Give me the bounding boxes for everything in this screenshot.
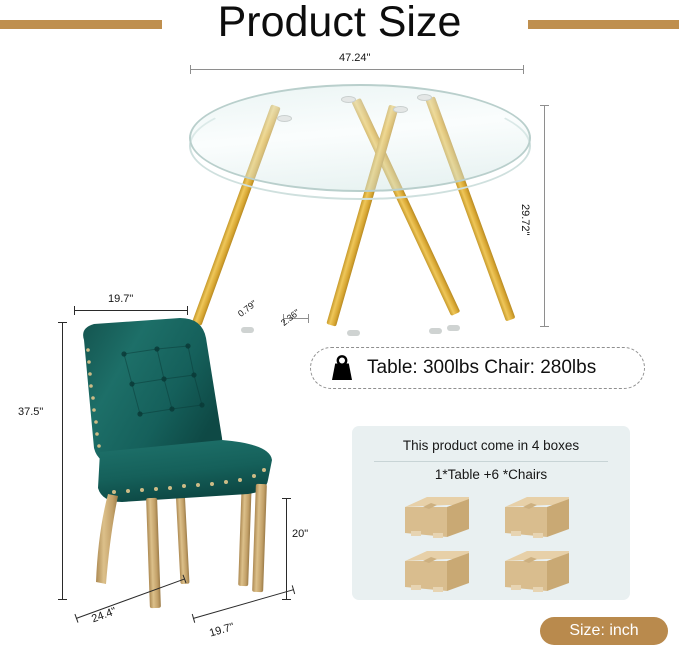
chair-width-top-line: [74, 310, 188, 311]
chair-width-top-label: 19.7": [108, 293, 133, 305]
packaging-headline: This product come in 4 boxes: [352, 436, 630, 456]
table-foot-3: [447, 325, 460, 331]
packaging-panel: This product come in 4 boxes 1*Table +6 …: [352, 426, 630, 600]
chair-width-bottom-label: 19.7": [208, 621, 236, 640]
chair-seat-height-line: [286, 498, 287, 600]
box-grid: [397, 493, 585, 595]
chair-total-height-label: 37.5": [18, 406, 43, 418]
weight-capacity-banner: Table: 300lbs Chair: 280lbs: [310, 347, 645, 389]
page-header: Product Size: [0, 0, 679, 50]
leg-mount-1: [277, 115, 292, 122]
weight-icon: [327, 353, 357, 383]
packaging-subline: 1*Table +6 *Chairs: [352, 465, 630, 485]
chair-seat-height-label: 20": [292, 528, 308, 540]
leg-mount-3: [393, 106, 408, 113]
glass-dining-table-image: [185, 78, 535, 333]
table-diameter-line: [190, 69, 524, 70]
carton-box: [397, 547, 477, 595]
carton-box: [497, 547, 577, 595]
leg-mount-4: [417, 94, 432, 101]
carton-box: [397, 493, 477, 541]
table-diameter-label: 47.24": [339, 52, 370, 64]
packaging-divider: [374, 461, 608, 462]
table-glass-top: [189, 84, 531, 192]
table-height-line: [544, 105, 545, 327]
dining-chair-image: [62, 312, 292, 612]
page-title: Product Size: [0, 0, 679, 46]
leg-mount-2: [341, 96, 356, 103]
size-unit-badge: Size: inch: [540, 617, 668, 645]
table-foot-2: [429, 328, 442, 334]
carton-box: [497, 493, 577, 541]
table-foot-4: [347, 330, 360, 336]
weight-capacity-label: Table: 300lbs Chair: 280lbs: [367, 357, 596, 379]
